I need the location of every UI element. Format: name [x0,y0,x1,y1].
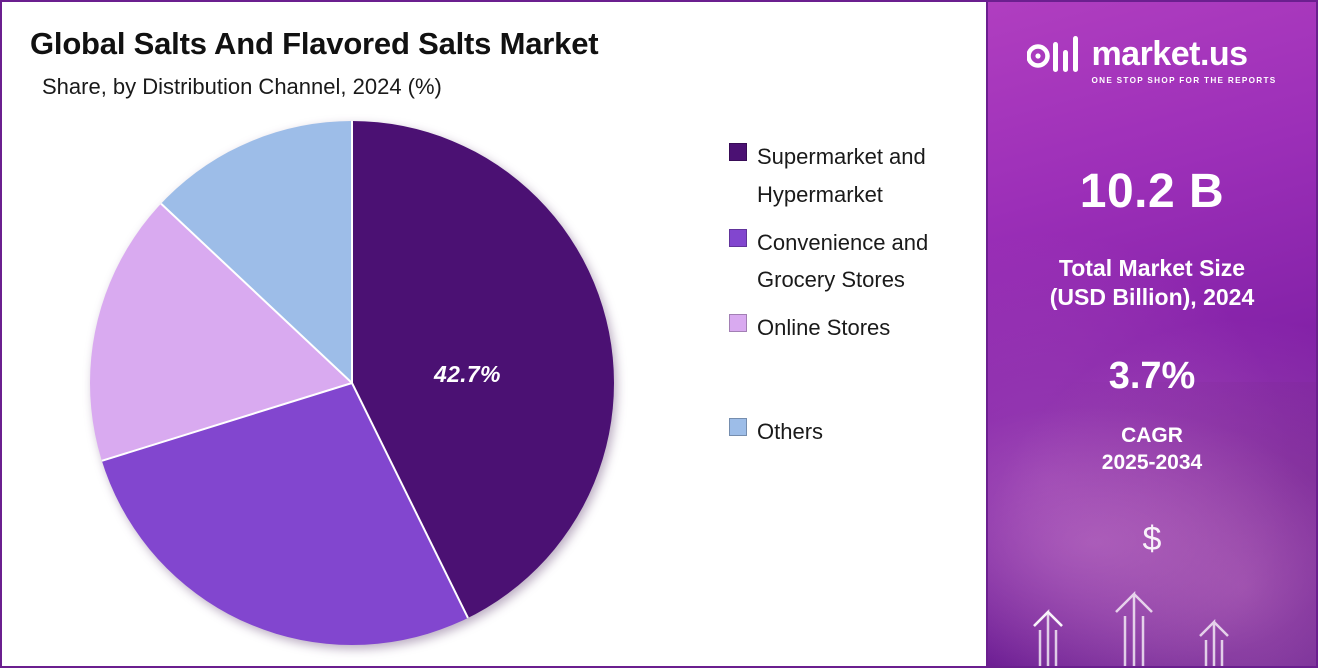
dollar-icon: $ [988,520,1316,559]
market-size-caption-line1: Total Market Size [988,254,1316,283]
brand-logo: market.us ONE STOP SHOP FOR THE REPORTS [988,36,1316,85]
legend-item[interactable]: Online Stores [729,309,969,347]
market-us-logo-icon [1027,36,1079,85]
legend-label: Supermarket and Hypermarket [757,138,942,214]
market-size-value: 10.2 B [988,164,1316,219]
chart-subtitle: Share, by Distribution Channel, 2024 (%) [42,74,442,100]
legend-item[interactable]: Others [729,413,969,451]
brand-tagline: ONE STOP SHOP FOR THE REPORTS [1091,76,1276,85]
legend-label: Online Stores [757,309,890,347]
growth-arrows-icon [988,576,1318,666]
pie-slice-label: 42.7% [434,361,501,388]
cagr-caption: CAGR 2025-2034 [988,422,1316,477]
cagr-caption-line2: 2025-2034 [988,449,1316,476]
infographic-root: Global Salts And Flavored Salts Market S… [0,0,1318,668]
cagr-value: 3.7% [988,355,1316,398]
chart-legend: Supermarket and Hypermarket Convenience … [729,138,969,461]
legend-label: Convenience and Grocery Stores [757,224,942,300]
legend-item[interactable]: Convenience and Grocery Stores [729,224,969,300]
stats-panel: market.us ONE STOP SHOP FOR THE REPORTS … [986,0,1318,668]
legend-item[interactable]: Supermarket and Hypermarket [729,138,969,214]
chart-panel: Global Salts And Flavored Salts Market S… [0,0,986,668]
brand-text: market.us ONE STOP SHOP FOR THE REPORTS [1091,37,1276,85]
market-size-caption-line2: (USD Billion), 2024 [988,283,1316,312]
legend-swatch-icon [729,314,747,332]
legend-label: Others [757,413,823,451]
brand-name: market.us [1091,37,1276,71]
pie-separators [90,121,614,645]
page-title: Global Salts And Flavored Salts Market [30,26,598,62]
legend-swatch-icon [729,418,747,436]
pie-chart: 42.7% [90,121,618,649]
legend-swatch-icon [729,229,747,247]
legend-spacer [729,357,969,413]
legend-swatch-icon [729,143,747,161]
cagr-caption-line1: CAGR [988,422,1316,449]
market-size-caption: Total Market Size (USD Billion), 2024 [988,254,1316,313]
